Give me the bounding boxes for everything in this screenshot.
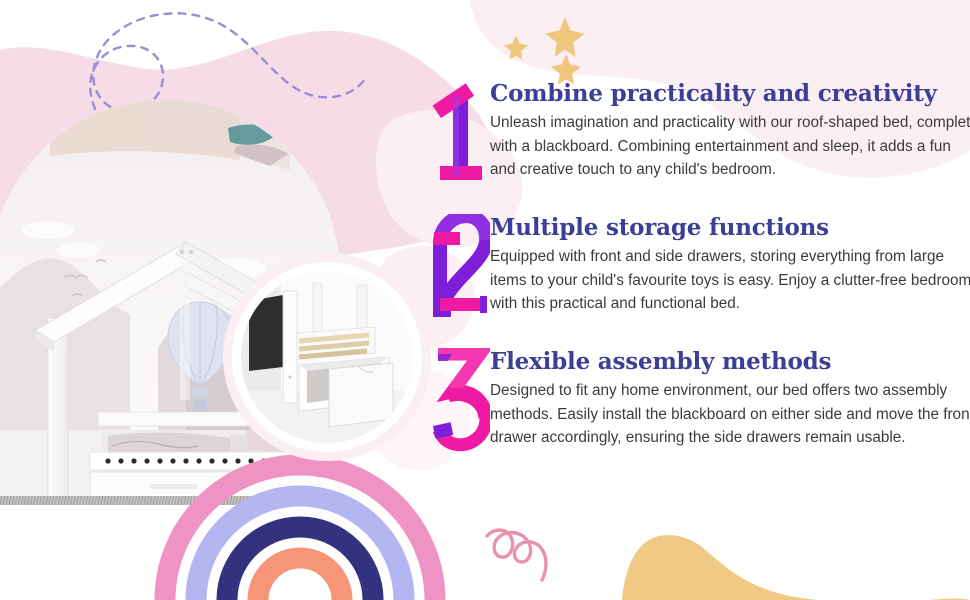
drawer-detail-illustration (241, 271, 413, 443)
numeral-2-icon (432, 214, 490, 324)
features-list: Combine practicality and creativity Unle… (432, 78, 970, 458)
guardrail-dot-trim (100, 456, 330, 466)
numeral-1 (432, 80, 490, 190)
star-large-icon (546, 17, 585, 57)
feature-item-1: Combine practicality and creativity Unle… (432, 78, 970, 190)
feature-item-2: Multiple storage functions Equipped with… (432, 212, 970, 324)
feature-title: Flexible assembly methods (490, 350, 970, 374)
numeral-3-icon (432, 348, 490, 458)
feature-description: Unleash imagination and practicality wit… (490, 111, 970, 181)
feature-description: Equipped with front and side drawers, st… (490, 245, 970, 315)
sand-hill-shape (622, 535, 970, 600)
star-small-icon (504, 35, 528, 60)
star-group (504, 17, 585, 85)
feature-title: Multiple storage functions (490, 216, 970, 240)
feature-item-3: Flexible assembly methods Designed to fi… (432, 346, 970, 458)
numeral-3 (432, 348, 490, 458)
numeral-1-icon (432, 80, 490, 190)
feature-description: Designed to fit any home environment, ou… (490, 379, 970, 449)
infographic-canvas: Combine practicality and creativity Unle… (0, 0, 970, 600)
feature-title: Combine practicality and creativity (490, 82, 970, 106)
pink-squiggle (487, 530, 546, 580)
numeral-2 (432, 214, 490, 324)
product-detail-inset (232, 262, 422, 452)
